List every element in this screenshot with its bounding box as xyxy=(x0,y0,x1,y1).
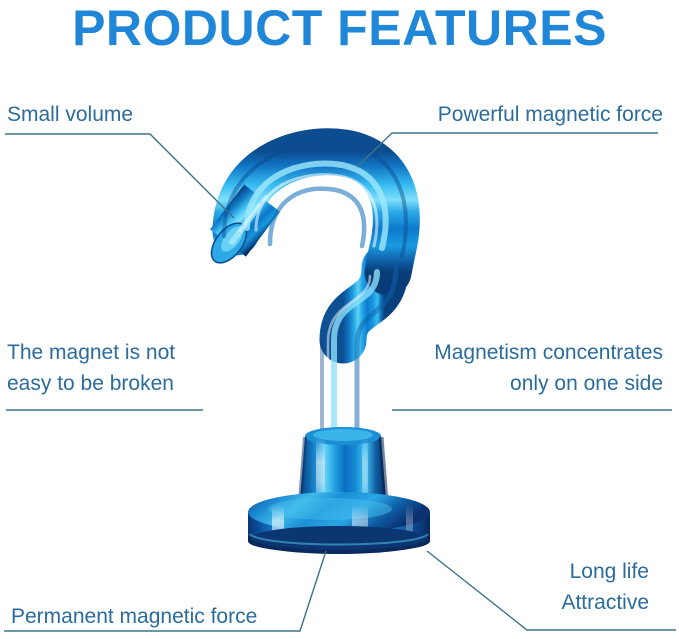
label-long-life-line1: Long life xyxy=(439,556,649,587)
label-magnet-not-broken: The magnet is not easy to be broken xyxy=(7,337,267,399)
label-magnetism-concentrates: Magnetism concentrates only on one side xyxy=(373,337,663,399)
label-magnet-not-broken-line2: easy to be broken xyxy=(7,368,267,399)
label-permanent-magnetic-force: Permanent magnetic force xyxy=(11,601,257,632)
product-features-infographic: PRODUCT FEATURES xyxy=(0,0,679,639)
label-powerful-magnetic-force: Powerful magnetic force xyxy=(438,99,663,130)
label-long-life-attractive: Long life Attractive xyxy=(439,556,649,618)
label-magnetism-concentrates-line2: only on one side xyxy=(373,368,663,399)
label-long-life-line2: Attractive xyxy=(439,587,649,618)
label-magnetism-concentrates-line1: Magnetism concentrates xyxy=(373,337,663,368)
magnetic-hook-image xyxy=(0,0,679,639)
label-small-volume: Small volume xyxy=(7,99,133,130)
magnet-base xyxy=(248,492,430,554)
label-magnet-not-broken-line1: The magnet is not xyxy=(7,337,267,368)
